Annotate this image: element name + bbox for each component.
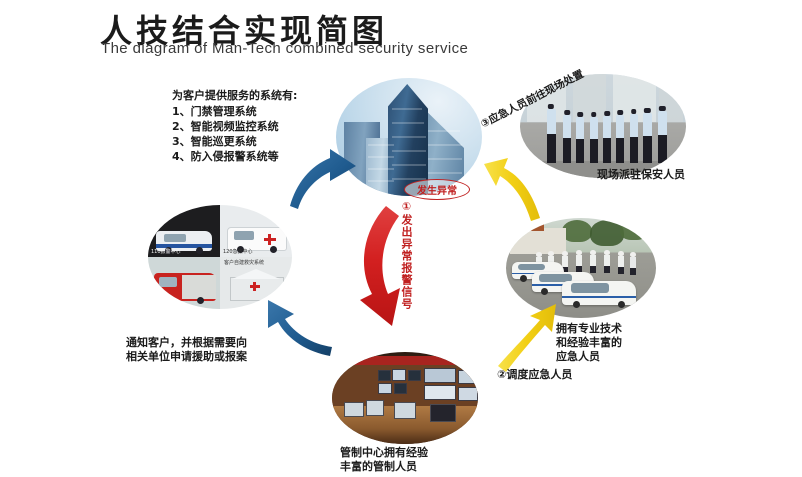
- arrow-alarm-signal: [360, 206, 400, 326]
- diagram-canvas: 人技结合实现简图 The diagram of Man-Tech combine…: [0, 0, 802, 477]
- patrol-caption-line-3: 应急人员: [556, 350, 622, 364]
- systems-panel-item-4: 4、防入侵报警系统等: [172, 149, 342, 164]
- systems-panel-heading: 为客户提供服务的系统有:: [172, 88, 342, 103]
- alarm-status-badge: 发生异常: [404, 179, 470, 200]
- patrol-cars-photo: [506, 218, 656, 318]
- rescue-units-photo: 110报警中心 120急救中心 客户自建救灾系统: [148, 205, 292, 309]
- arrow-dispatch-personnel: [498, 304, 556, 372]
- control-caption-line-1: 管制中心拥有经验: [340, 446, 428, 460]
- control-center-photo: [332, 352, 478, 444]
- rescue-caption-line-1: 通知客户，并根据需要向: [126, 336, 247, 350]
- systems-panel-item-2: 2、智能视频监控系统: [172, 119, 342, 134]
- rescue-tile-police: 110报警中心: [148, 205, 220, 257]
- systems-panel-item-3: 3、智能巡更系统: [172, 134, 342, 149]
- rescue-tile-label-4: 客户自建救灾系统: [224, 259, 264, 266]
- rescue-caption-line-2: 相关单位申请援助或报案: [126, 350, 247, 364]
- rescue-tile-ambulance: 120急救中心: [220, 205, 292, 257]
- page-subtitle: The diagram of Man-Tech combined securit…: [101, 40, 468, 57]
- systems-panel-item-1: 1、门禁管理系统: [172, 104, 342, 119]
- patrol-caption-line-2: 和经验丰富的: [556, 336, 622, 350]
- building-photo: [336, 78, 482, 196]
- patrol-caption-line-1: 拥有专业技术: [556, 322, 622, 336]
- patrol-caption: 拥有专业技术 和经验丰富的 应急人员: [556, 322, 622, 364]
- guards-caption: 现场派驻保安人员: [597, 168, 685, 182]
- flow-step-1-label: ①发出异常报警信号: [398, 200, 414, 310]
- rescue-tile-label-1: 110报警中心: [151, 248, 181, 255]
- rescue-caption: 通知客户，并根据需要向 相关单位申请援助或报案: [126, 336, 247, 364]
- flow-step-2-label: ②调度应急人员: [497, 368, 572, 382]
- control-caption-line-2: 丰富的管制人员: [340, 460, 428, 474]
- systems-panel: 为客户提供服务的系统有: 1、门禁管理系统 2、智能视频监控系统 3、智能巡更系…: [172, 88, 342, 164]
- control-center-caption: 管制中心拥有经验 丰富的管制人员: [340, 446, 428, 474]
- rescue-tile-firetruck: [148, 257, 220, 309]
- rescue-tile-label-2: 120急救中心: [223, 248, 253, 255]
- rescue-tile-tent: 客户自建救灾系统: [220, 257, 292, 309]
